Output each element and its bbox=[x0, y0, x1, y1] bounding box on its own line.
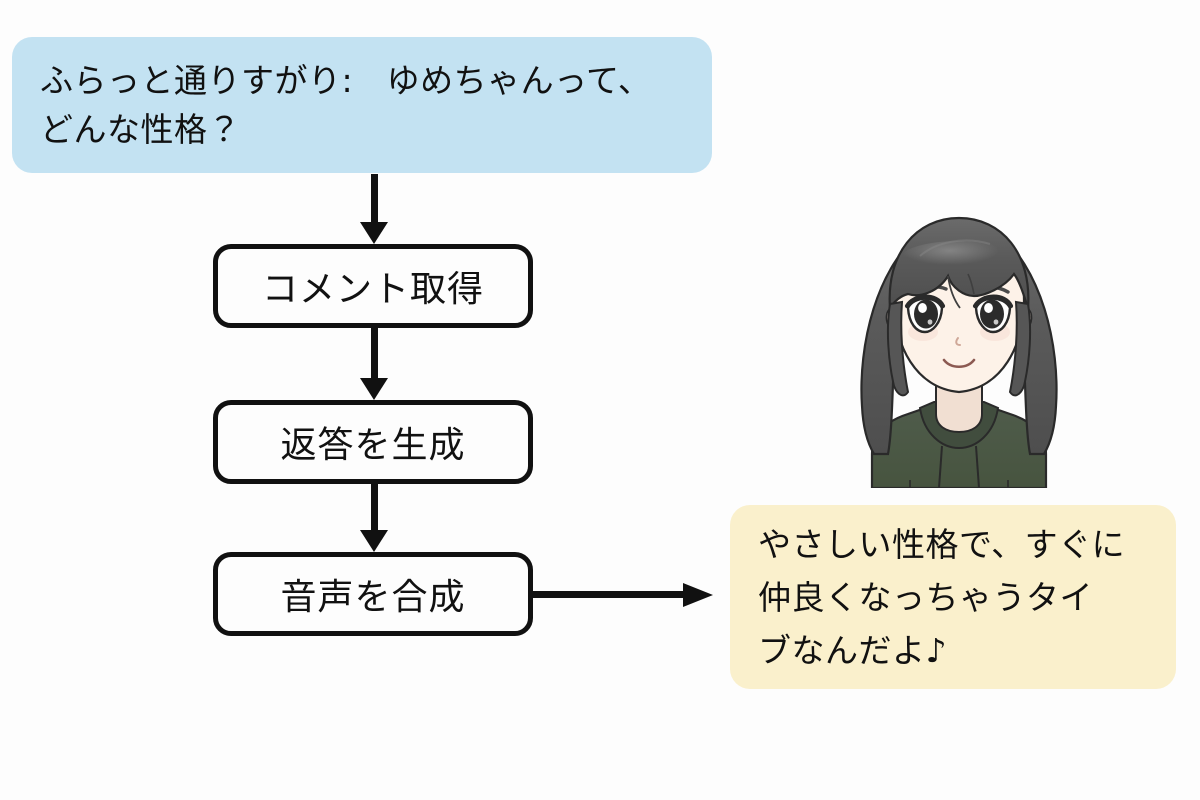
flow-step-comment-fetch[interactable]: コメント取得 bbox=[213, 244, 533, 328]
diagram-canvas: ふらっと通りすがり: ゆめちゃんって、 どんな性格？ コメント取得 返答を生成 … bbox=[0, 0, 1200, 800]
viewer-comment-bubble: ふらっと通りすがり: ゆめちゃんって、 どんな性格？ bbox=[12, 37, 712, 173]
arrow-shaft bbox=[371, 328, 378, 380]
flow-step-label: 返答を生成 bbox=[280, 416, 465, 468]
arrow-step-1-to-step-2 bbox=[366, 328, 382, 402]
comment-line-1: ふらっと通りすがり: ゆめちゃんって、 bbox=[40, 56, 688, 105]
arrow-step-3-to-reply bbox=[533, 585, 715, 605]
arrow-shaft bbox=[371, 174, 378, 224]
arrow-head-down-icon bbox=[360, 530, 388, 552]
reply-line-3: ブなんだよ♪ bbox=[758, 624, 1162, 677]
arrow-head-right-icon bbox=[683, 583, 713, 607]
arrow-shaft bbox=[533, 591, 688, 598]
comment-line-2: どんな性格？ bbox=[40, 105, 688, 154]
arrow-comment-to-step-1 bbox=[366, 174, 382, 246]
arrow-head-down-icon bbox=[360, 378, 388, 400]
arrow-head-down-icon bbox=[360, 222, 388, 244]
character-avatar-illustration bbox=[824, 196, 1094, 488]
arrow-step-2-to-step-3 bbox=[366, 484, 382, 554]
flow-step-voice-synthesis[interactable]: 音声を合成 bbox=[213, 552, 533, 636]
character-reply-bubble: やさしい性格で、すぐに 仲良くなっちゃうタイ ブなんだよ♪ bbox=[730, 505, 1176, 689]
arrow-shaft bbox=[371, 484, 378, 532]
flow-step-label: コメント取得 bbox=[262, 260, 484, 312]
reply-line-1: やさしい性格で、すぐに bbox=[758, 518, 1162, 571]
reply-line-2: 仲良くなっちゃうタイ bbox=[758, 571, 1162, 624]
flow-step-label: 音声を合成 bbox=[280, 568, 465, 620]
flow-step-reply-generate[interactable]: 返答を生成 bbox=[213, 400, 533, 484]
